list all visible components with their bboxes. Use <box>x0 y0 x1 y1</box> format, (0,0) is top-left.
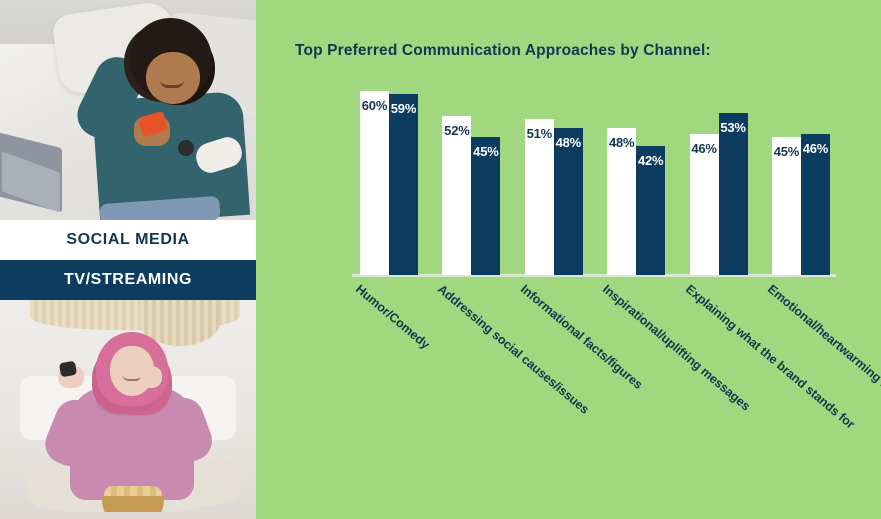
bar-tv-streaming: 45% <box>471 137 500 275</box>
bar-value-label: 48% <box>609 135 634 150</box>
legend-item-social-media: SOCIAL MEDIA <box>0 220 256 260</box>
bar-value-label: 48% <box>556 135 581 150</box>
left-column: SOCIAL MEDIA TV/STREAMING <box>0 0 256 519</box>
bar-value-label: 46% <box>691 141 716 156</box>
infographic-page: SOCIAL MEDIA TV/STREAMING Top Preferred … <box>0 0 881 519</box>
bar-tv-streaming: 53% <box>719 113 748 275</box>
bar-group: 46%53% <box>690 76 748 275</box>
legend-item-tv-streaming: TV/STREAMING <box>0 260 256 300</box>
bar-value-label: 52% <box>444 123 469 138</box>
bar-value-label: 45% <box>774 144 799 159</box>
bar-tv-streaming: 46% <box>801 134 830 275</box>
chart-title: Top Preferred Communication Approaches b… <box>295 42 711 60</box>
photo-social-media <box>0 0 256 220</box>
bar-social-media: 60% <box>360 91 389 275</box>
bar-social-media: 51% <box>525 119 554 275</box>
bar-social-media: 46% <box>690 134 719 275</box>
category-labels: Humor/ComedyAddressing social causes/iss… <box>360 282 830 492</box>
category-label: Addressing social causes/issues <box>435 282 592 417</box>
bar-social-media: 45% <box>772 137 801 275</box>
bar-social-media: 52% <box>442 116 471 275</box>
bar-group: 45%46% <box>772 76 830 275</box>
bar-group: 52%45% <box>442 76 500 275</box>
photo-tv-streaming <box>0 300 256 519</box>
bar-chart-plot: 60%59%52%45%51%48%48%42%46%53%45%46% <box>360 76 830 275</box>
bar-value-label: 46% <box>803 141 828 156</box>
category-label: Explaining what the brand stands for <box>683 282 857 431</box>
bar-value-label: 60% <box>362 98 387 113</box>
bar-value-label: 45% <box>473 144 498 159</box>
bar-value-label: 59% <box>391 101 416 116</box>
category-label: Inspirational/uplifting messages <box>600 282 753 413</box>
bar-tv-streaming: 59% <box>389 94 418 275</box>
bar-value-label: 42% <box>638 153 663 168</box>
bar-tv-streaming: 42% <box>636 146 665 275</box>
bar-social-media: 48% <box>607 128 636 275</box>
bar-group: 48%42% <box>607 76 665 275</box>
category-label: Humor/Comedy <box>353 282 432 352</box>
legend-label-social-media: SOCIAL MEDIA <box>66 231 189 249</box>
chart-panel: Top Preferred Communication Approaches b… <box>256 0 881 519</box>
bar-group: 60%59% <box>360 76 418 275</box>
bar-tv-streaming: 48% <box>554 128 583 275</box>
bar-value-label: 53% <box>720 120 745 135</box>
legend-label-tv-streaming: TV/STREAMING <box>64 271 192 289</box>
bar-groups: 60%59%52%45%51%48%48%42%46%53%45%46% <box>360 76 830 275</box>
bar-value-label: 51% <box>527 126 552 141</box>
bar-group: 51%48% <box>525 76 583 275</box>
